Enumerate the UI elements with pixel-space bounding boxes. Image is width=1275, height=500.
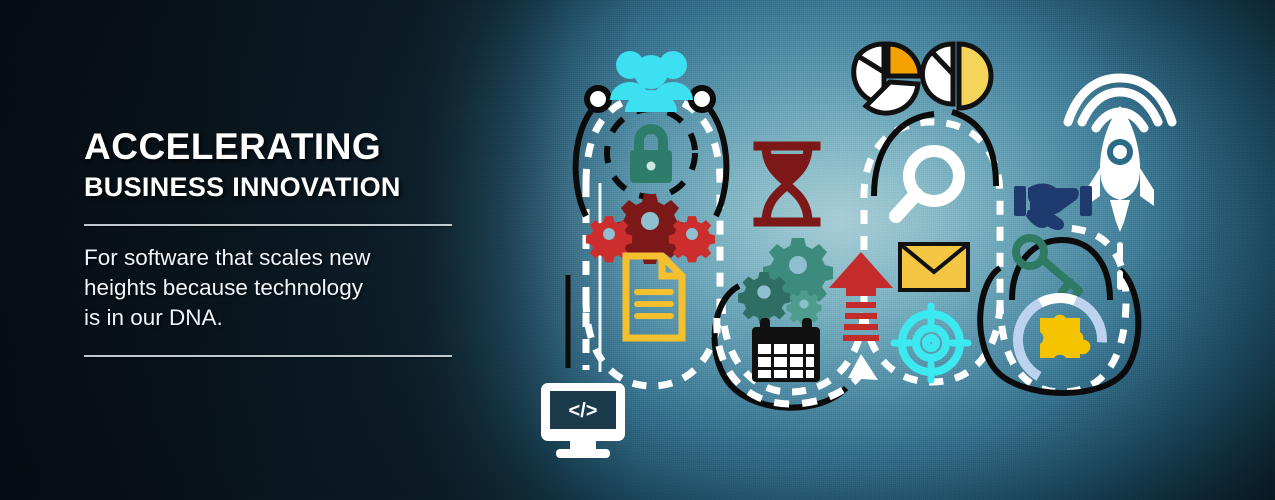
pie-chart-yellow-icon [922,44,991,108]
hero-banner: ACCELERATING BUSINESS INNOVATION For sof… [0,0,1275,500]
icon-illustration: </> [0,0,1275,500]
envelope-icon [900,244,968,290]
magnifier-icon [896,151,959,216]
key-icon [1016,238,1079,300]
puzzle-piece [1040,315,1090,358]
lock-icon [630,124,672,183]
target-icon [894,306,968,380]
handshake-icon [1014,184,1092,231]
gears-teal-icon [738,238,833,326]
calendar-icon [752,318,820,382]
code-monitor-icon: </> [541,383,625,458]
code-glyph-text: </> [569,400,598,422]
document-icon [626,256,682,338]
pie-chart-orange-icon [854,44,920,113]
people-group-icon [610,51,693,112]
arrow-head [848,354,878,380]
